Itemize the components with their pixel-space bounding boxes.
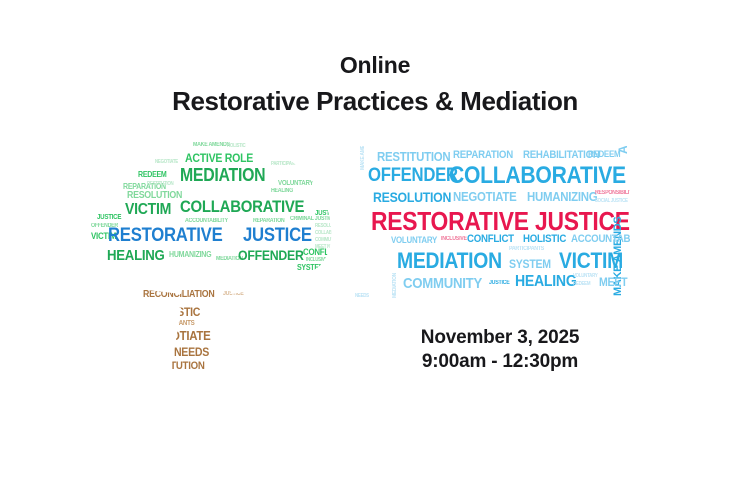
rect-cloud-word: HOLISTIC [523, 234, 566, 245]
rect-cloud-word: COLLABORATIVE [449, 164, 626, 188]
tree-word-cloud-image: MAKE AMENDSACTIVE ROLEMEDIATIONREDEEMREP… [75, 138, 340, 370]
title-line-subject: Restorative Practices & Mediation [0, 84, 750, 118]
tree-canopy-word: NEGOTIATE [155, 160, 178, 165]
rect-cloud-word: REDEEM [573, 282, 590, 287]
rect-cloud-word: SYSTEM [509, 258, 551, 270]
poster-canvas: Online Restorative Practices & Mediation… [0, 0, 750, 488]
event-time: 9:00am - 12:30pm [375, 350, 625, 374]
tree-canopy-word: ACCOUNTABILITY [185, 218, 228, 224]
rect-cloud-word: MEDIATION [397, 250, 502, 272]
tree-canopy-word: RESOLUTION [127, 191, 182, 201]
rect-cloud-word: NEGOTIATE [453, 190, 517, 203]
tree-canopy-word: HEALING [107, 248, 165, 263]
rect-cloud-word: PARTICIPANTS [509, 246, 544, 252]
rect-cloud-word: MEDIATION [393, 273, 398, 298]
tree-canopy-word: HEALING [271, 188, 293, 194]
rectangle-word-cloud-image: RESTITUTIONREPARATIONREHABILITATIONREDEE… [355, 146, 630, 304]
page-title: Online Restorative Practices & Mediation [0, 50, 750, 118]
tree-canopy-word: HUMANIZING [169, 251, 211, 259]
event-date: November 3, 2025 [375, 326, 625, 350]
tree-canopy-word: JUSTICE [243, 226, 312, 245]
tree-canopy-word: ACTIVE ROLE [185, 152, 253, 164]
rect-cloud-word: OFFENDER [368, 166, 458, 185]
tree-canopy-word: REPARATION [253, 218, 284, 224]
tree-canopy-word: MAKE AMENDS [193, 142, 230, 148]
rect-cloud-word: ACCOUNTABILITY [571, 234, 630, 245]
rect-cloud-word: VICTIM [559, 250, 623, 272]
tree-canopy-word: VICTIM [125, 202, 171, 218]
tree-canopy-word: REDEEM [138, 171, 167, 179]
rect-cloud-word: RESTORATIVE [371, 208, 529, 234]
tree-canopy-word: RESTORATIVE [108, 226, 222, 245]
rect-cloud-word: SOCIAL JUSTICE [595, 199, 628, 204]
tree-canopy-word: OFFENDER [238, 248, 304, 262]
rect-cloud-word: HUMANIZING [527, 190, 597, 203]
tree-canopy-word: COLLABORATIVE [180, 198, 304, 215]
rect-cloud-word: VOLUNTARY [391, 236, 437, 245]
event-datetime: November 3, 2025 9:00am - 12:30pm [375, 326, 625, 374]
tree-canopy-word: RESTITUTION [147, 182, 173, 187]
tree-canopy-word: MEDIATION [180, 166, 265, 184]
rect-cloud-word: MEET NEEDS [599, 276, 630, 288]
rect-cloud-word: JUSTICE [489, 280, 509, 286]
rectangle-cloud-words: RESTITUTIONREPARATIONREHABILITATIONREDEE… [355, 146, 630, 304]
rect-cloud-word: COMMUNITY [403, 276, 482, 291]
rect-cloud-word: MAKE AMENDS [361, 146, 366, 170]
title-line-online: Online [0, 50, 750, 80]
tree-canopy-word: JUSTICE [97, 214, 121, 221]
rect-cloud-word: REPARATION [453, 150, 513, 161]
rect-cloud-word: ACTIVE ROLE [617, 146, 629, 154]
rect-cloud-word: VOLUNTARY [573, 274, 598, 279]
rect-cloud-word: CONFLICT [467, 234, 514, 245]
rect-cloud-word: RESTITUTION [377, 150, 450, 163]
rect-cloud-word: HEALING [515, 274, 577, 290]
rect-cloud-word: INCLUSIVE [441, 236, 467, 242]
tree-canopy-word: HOLISTIC [227, 144, 245, 149]
rect-cloud-word: NEEDS [355, 294, 369, 299]
rect-cloud-word: RESOLUTION [373, 190, 451, 204]
tree-canopy-word: VOLUNTARY [278, 180, 313, 187]
rect-cloud-word: RESPONSIBILITY [595, 190, 630, 196]
